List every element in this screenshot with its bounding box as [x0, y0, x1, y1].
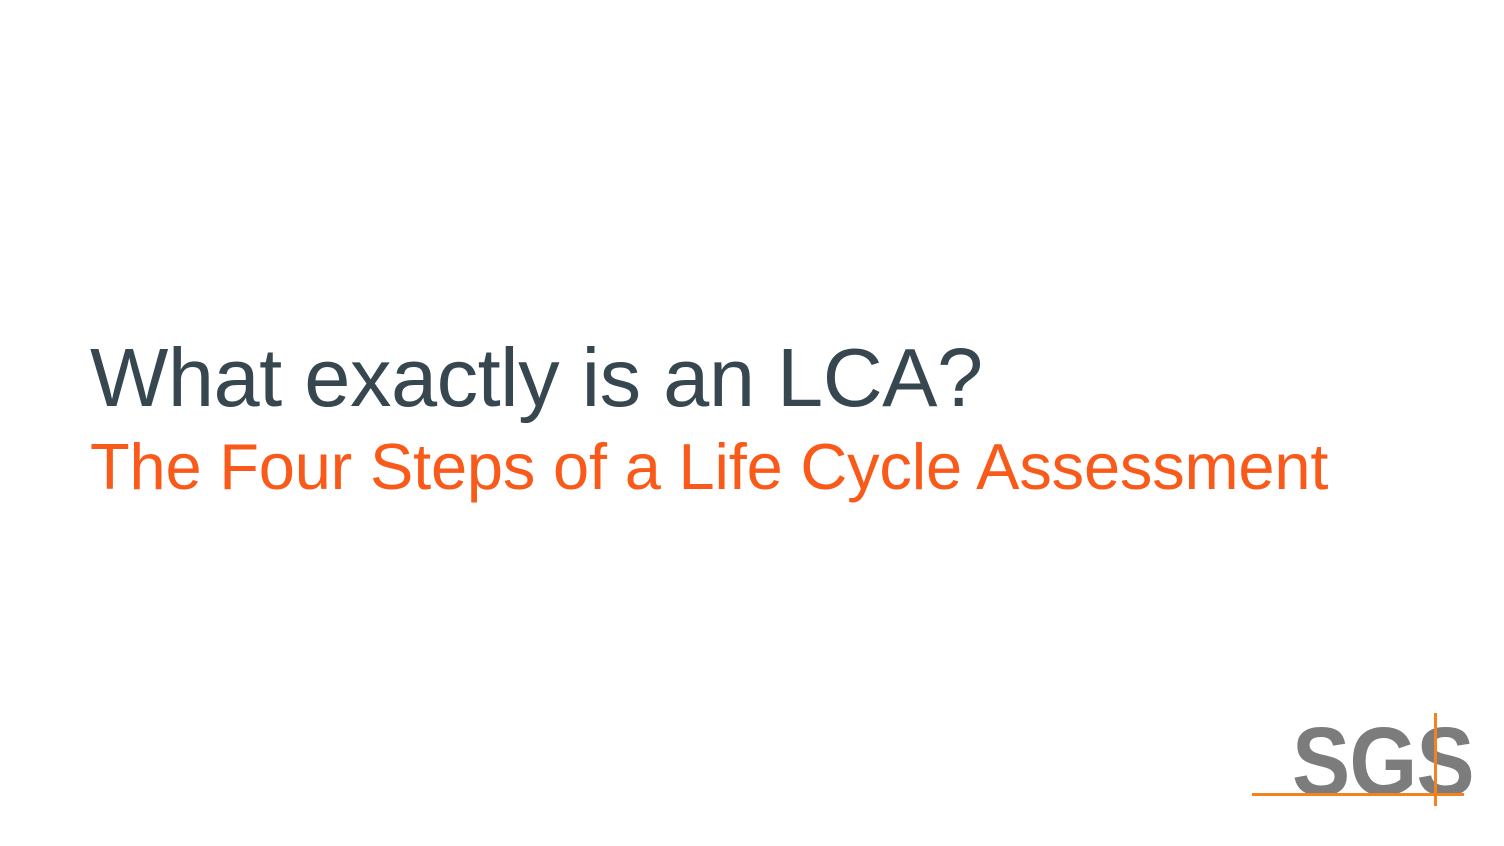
- slide-canvas: What exactly is an LCA? The Four Steps o…: [0, 0, 1504, 846]
- title-block: What exactly is an LCA? The Four Steps o…: [90, 330, 1390, 504]
- logo-horizontal-rule: [1252, 793, 1464, 796]
- sgs-logo: SGS: [1244, 700, 1474, 820]
- page-title: What exactly is an LCA?: [90, 330, 1390, 426]
- page-subtitle: The Four Steps of a Life Cycle Assessmen…: [90, 430, 1390, 504]
- logo-vertical-rule: [1434, 713, 1437, 806]
